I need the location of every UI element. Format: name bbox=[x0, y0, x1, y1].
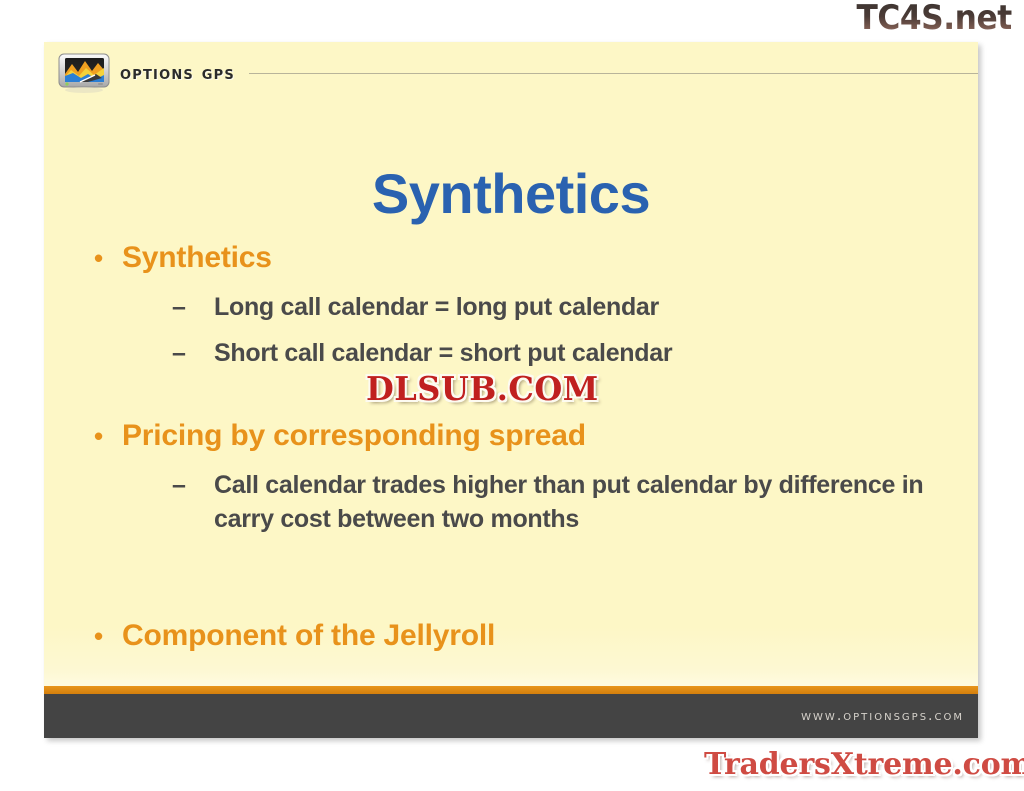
dlsub-watermark: DLSUB.COM bbox=[366, 371, 599, 407]
slide-body: • Synthetics – Long call calendar = long… bbox=[84, 238, 952, 656]
bullet-text: Long call calendar = long put calendar bbox=[214, 290, 659, 324]
bullet-level2: – Call calendar trades higher than put c… bbox=[84, 468, 952, 536]
footer-url: www.OptionsGPS.com bbox=[801, 708, 964, 724]
bullet-text: Synthetics bbox=[122, 238, 272, 278]
spacer bbox=[84, 536, 952, 582]
bullet-marker: – bbox=[84, 468, 214, 502]
bullet-marker: • bbox=[84, 416, 122, 456]
bullet-text: Call calendar trades higher than put cal… bbox=[214, 468, 952, 536]
slide-header: Options GPS bbox=[44, 42, 978, 104]
tc4s-watermark: TC4S.net bbox=[857, 0, 1012, 38]
bullet-text: Short call calendar = short put calendar bbox=[214, 336, 672, 370]
bullet-marker: • bbox=[84, 616, 122, 656]
bullet-level2: – Short call calendar = short put calend… bbox=[84, 336, 952, 370]
bullet-level2: – Long call calendar = long put calendar bbox=[84, 290, 952, 324]
gps-device-icon bbox=[58, 52, 110, 94]
header-divider bbox=[249, 73, 978, 74]
spacer bbox=[84, 278, 952, 290]
bullet-marker: – bbox=[84, 290, 214, 324]
bullet-text: Component of the Jellyroll bbox=[122, 616, 495, 656]
spacer bbox=[84, 324, 952, 336]
footer-accent-stripe bbox=[44, 686, 978, 694]
bullet-marker: • bbox=[84, 238, 122, 278]
bullet-level1: • Pricing by corresponding spread bbox=[84, 416, 952, 456]
bullet-marker: – bbox=[84, 336, 214, 370]
slide-footer: www.OptionsGPS.com bbox=[44, 694, 978, 738]
slide-title: Synthetics bbox=[44, 164, 978, 224]
spacer bbox=[84, 582, 952, 616]
brand-wordmark: Options GPS bbox=[120, 62, 235, 84]
bullet-level1: • Component of the Jellyroll bbox=[84, 616, 952, 656]
bullet-level1: • Synthetics bbox=[84, 238, 952, 278]
tradersxtreme-watermark: TradersXtreme.com bbox=[704, 748, 1024, 782]
spacer bbox=[84, 456, 952, 468]
bullet-text: Pricing by corresponding spread bbox=[122, 416, 586, 456]
